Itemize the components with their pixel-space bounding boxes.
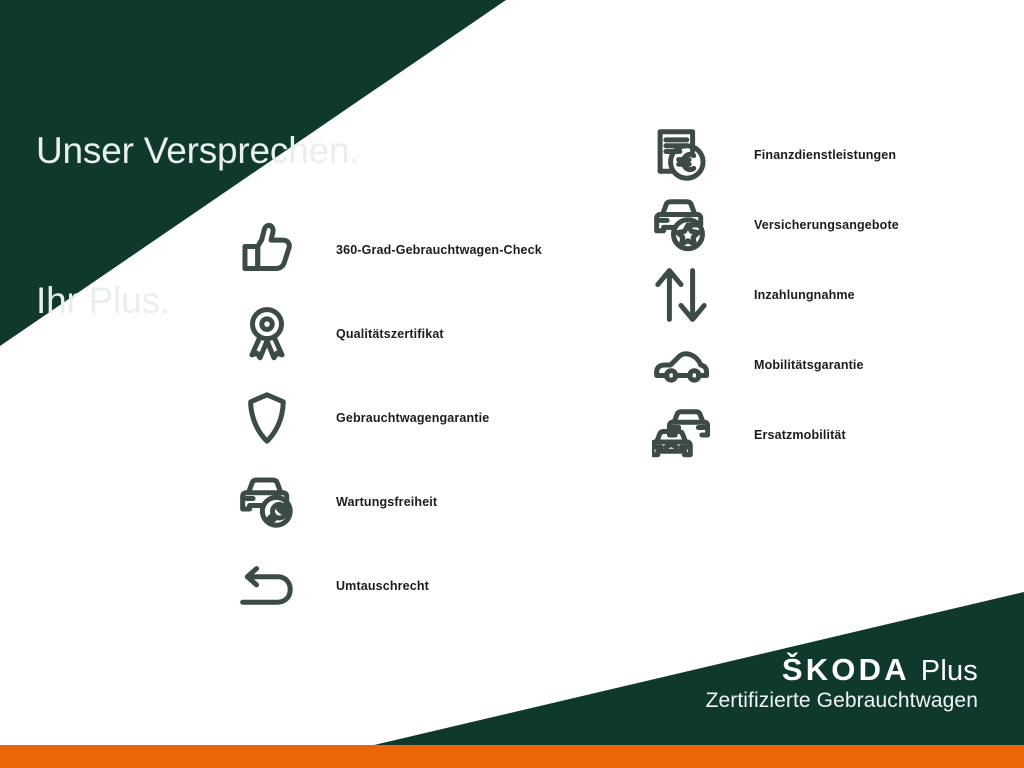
feature-label: Wartungsfreiheit (336, 495, 437, 509)
feature-label: Ersatzmobilität (754, 428, 846, 442)
promo-banner: Unser Versprechen. Ihr Plus. 360-Grad-Ge… (0, 0, 1024, 768)
shield-icon (236, 387, 298, 449)
feature-label: Umtauschrecht (336, 579, 429, 593)
orange-bottom-bar (0, 745, 1024, 768)
feature-item-qualitaetszertifikat: Qualitätszertifikat (236, 292, 616, 376)
feature-item-versicherungsangebote: Versicherungsangebote (650, 190, 1010, 260)
feature-label: Gebrauchtwagengarantie (336, 411, 489, 425)
return-arrow-icon (236, 555, 298, 617)
feature-item-finanzdienstleistungen: Finanzdienstleistungen (650, 120, 1010, 190)
feature-label: Versicherungsangebote (754, 218, 899, 232)
brand-suffix: Plus (921, 655, 978, 688)
rosette-award-icon (236, 303, 298, 365)
up-down-arrows-icon (650, 264, 712, 326)
feature-item-wartungsfreiheit: Wartungsfreiheit (236, 460, 616, 544)
document-euro-icon (650, 124, 712, 186)
feature-item-inzahlungnahme: Inzahlungnahme (650, 260, 1010, 330)
brand-lockup: ŠKODA Plus Zertifizierte Gebrauchtwagen (706, 652, 978, 713)
feature-item-mobilitaetsgarantie: Mobilitätsgarantie (650, 330, 1010, 400)
feature-column-left: 360-Grad-Gebrauchtwagen-Check Qualitätsz… (236, 208, 616, 628)
two-cars-icon (650, 404, 712, 466)
feature-label: Inzahlungnahme (754, 288, 855, 302)
feature-item-ersatzmobilitaet: Ersatzmobilität (650, 400, 1010, 470)
thumbs-up-icon (236, 219, 298, 281)
car-side-icon (650, 334, 712, 396)
car-star-icon (650, 194, 712, 256)
feature-label: Finanzdienstleistungen (754, 148, 896, 162)
brand-tagline: Zertifizierte Gebrauchtwagen (706, 689, 978, 713)
skoda-wordmark: ŠKODA (782, 652, 910, 688)
feature-item-gebrauchtwagengarantie: Gebrauchtwagengarantie (236, 376, 616, 460)
feature-item-360-grad-check: 360-Grad-Gebrauchtwagen-Check (236, 208, 616, 292)
feature-label: Qualitätszertifikat (336, 327, 444, 341)
feature-label: Mobilitätsgarantie (754, 358, 864, 372)
feature-item-umtauschrecht: Umtauschrecht (236, 544, 616, 628)
car-wrench-icon (236, 471, 298, 533)
feature-column-right: Finanzdienstleistungen Versicherungsange… (650, 120, 1010, 470)
headline-line-1: Unser Versprechen. (36, 126, 359, 176)
feature-label: 360-Grad-Gebrauchtwagen-Check (336, 243, 542, 257)
brand-name-row: ŠKODA Plus (706, 652, 978, 688)
